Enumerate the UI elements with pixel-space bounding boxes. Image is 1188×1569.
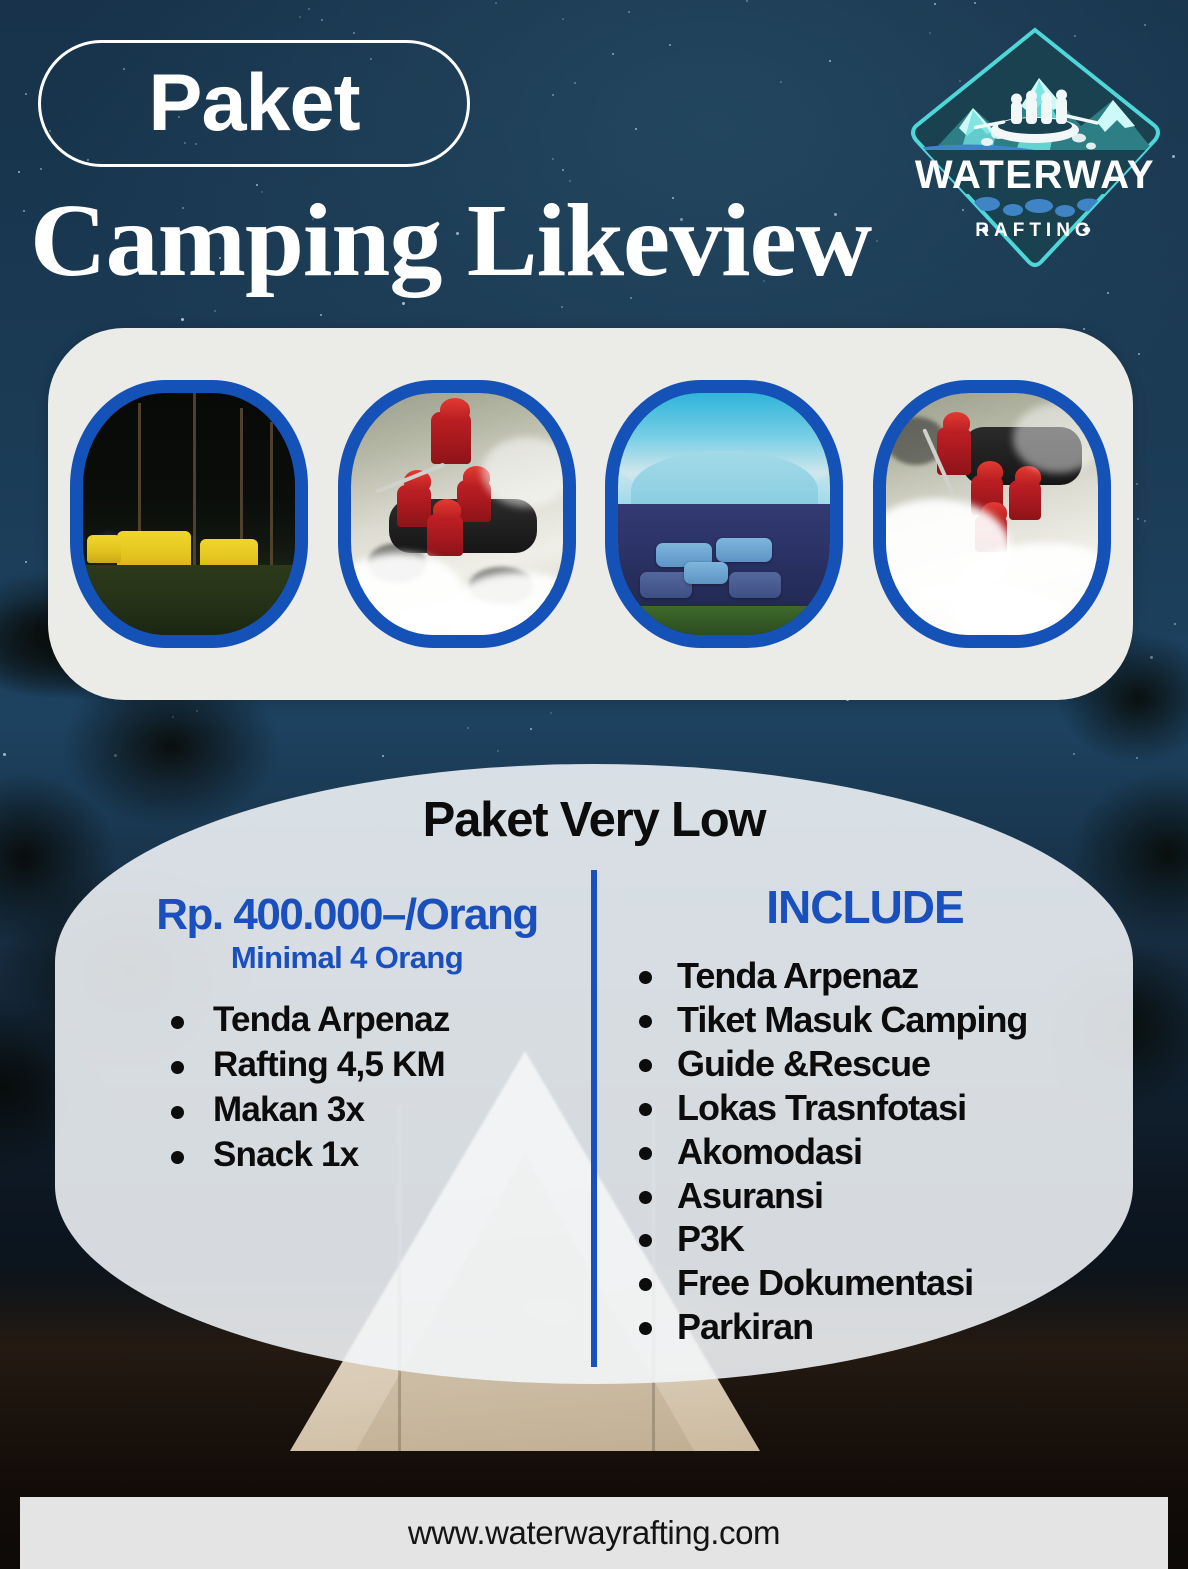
photo-image (886, 393, 1098, 635)
list-item: Lokas Trasnfotasi (677, 1086, 1115, 1130)
list-item: Makan 3x (213, 1088, 581, 1133)
list-item: Tenda Arpenaz (213, 998, 581, 1043)
logo-brand-text: WATERWAY (915, 153, 1155, 197)
photo-image (351, 393, 563, 635)
list-item: Tenda Arpenaz (677, 954, 1115, 998)
list-item: Akomodasi (677, 1130, 1115, 1174)
column-divider (591, 870, 597, 1367)
gallery-photo-rafting-team-whitewater (338, 380, 576, 648)
package-minimum: Minimal 4 Orang (113, 940, 581, 976)
package-price: Rp. 400.000–/Orang (113, 892, 581, 938)
paket-badge-label: Paket (148, 63, 359, 144)
website-url[interactable]: www.waterwayrafting.com (408, 1514, 780, 1552)
package-title: Paket Very Low (55, 792, 1133, 848)
list-item: P3K (677, 1217, 1115, 1261)
include-column: INCLUDE Tenda Arpenaz Tiket Masuk Campin… (615, 884, 1115, 1349)
page-title: Camping Likeview (30, 186, 1050, 295)
include-items-list: Tenda Arpenaz Tiket Masuk Camping Guide … (615, 954, 1115, 1349)
list-item: Asuransi (677, 1174, 1115, 1218)
list-item: Guide &Rescue (677, 1042, 1115, 1086)
package-items-list: Tenda Arpenaz Rafting 4,5 KM Makan 3x Sn… (113, 998, 581, 1177)
list-item: Rafting 4,5 KM (213, 1043, 581, 1088)
photo-image (618, 393, 830, 635)
waterway-rafting-logo: WATERWAY RAFTING (903, 22, 1168, 272)
gallery-photo-rafting-rapids-splash (873, 380, 1111, 648)
photo-gallery-panel (48, 328, 1133, 700)
mountain-raft-badge-icon: WATERWAY RAFTING (903, 22, 1168, 272)
list-item: Free Dokumentasi (677, 1261, 1115, 1305)
list-item: Snack 1x (213, 1133, 581, 1178)
gallery-photo-night-camp-yellow-tents (70, 380, 308, 648)
include-heading: INCLUDE (615, 884, 1115, 930)
gallery-photo-tent-interior-pillows (605, 380, 843, 648)
list-item: Tiket Masuk Camping (677, 998, 1115, 1042)
logo-subtitle-text: RAFTING (975, 220, 1094, 241)
list-item: Parkiran (677, 1305, 1115, 1349)
poster-canvas: Paket Camping Likeview (0, 0, 1188, 1569)
price-column: Rp. 400.000–/Orang Minimal 4 Orang Tenda… (113, 892, 581, 1177)
package-details-card: Paket Very Low Rp. 400.000–/Orang Minima… (55, 764, 1133, 1384)
footer-bar: www.waterwayrafting.com (20, 1497, 1168, 1569)
paket-badge: Paket (38, 40, 470, 167)
photo-image (83, 393, 295, 635)
